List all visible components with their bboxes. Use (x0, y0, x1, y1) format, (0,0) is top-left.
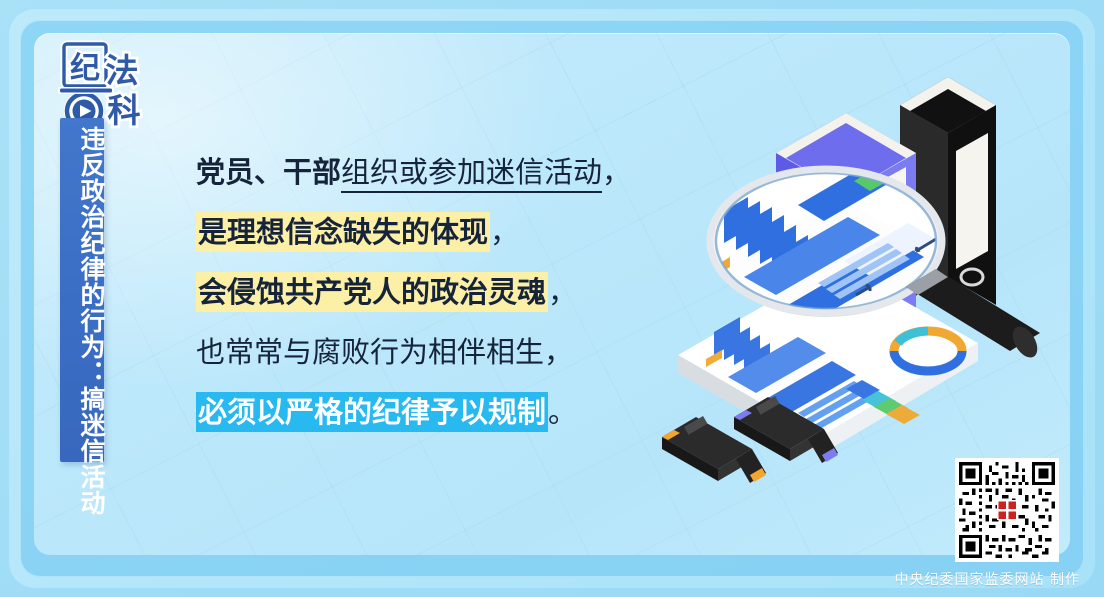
line5-seg-highlight: 必须以严格的纪律予以规制 (196, 392, 548, 432)
line1-seg-underline: 组织或参加迷信活动 (341, 155, 602, 193)
body-line-2: 是理想信念缺失的体现， (196, 202, 666, 262)
logo-char-fa: 法 (106, 51, 139, 90)
vertical-title-text: 违反政治纪律的行为：搞迷信活动 (60, 126, 104, 516)
poster-canvas: 纪 法 科 违反政治纪律的行为：搞迷信活动 (0, 0, 1104, 597)
line2-seg-highlight: 是理想信念缺失的体现 (196, 212, 490, 252)
credit-text: 中央纪委国家监委网站 制作 (820, 569, 1080, 589)
body-line-4: 也常常与腐败行为相伴相生， (196, 322, 666, 382)
logo-char-ji: 纪 (70, 51, 100, 86)
line3-seg-highlight: 会侵蚀共产党人的政治灵魂 (196, 272, 548, 312)
illustration-isometric-documents (648, 55, 1068, 485)
line5-seg-punct: 。 (548, 395, 577, 429)
line4-seg-plain: 也常常与腐败行为相伴相生， (196, 335, 573, 369)
body-line-3: 会侵蚀共产党人的政治灵魂， (196, 262, 666, 322)
line1-seg-bold: 党员、干部 (196, 155, 341, 189)
line1-seg-punct: ， (602, 155, 631, 189)
line3-seg-punct: ， (548, 275, 577, 309)
qr-code[interactable] (955, 458, 1059, 562)
body-copy: 党员、干部组织或参加迷信活动， 是理想信念缺失的体现， 会侵蚀共产党人的政治灵魂… (196, 142, 666, 442)
logo-char-ke: 科 (108, 91, 141, 130)
line2-seg-punct: ， (490, 215, 519, 249)
vertical-title-banner: 违反政治纪律的行为：搞迷信活动 (60, 118, 104, 462)
body-line-5: 必须以严格的纪律予以规制。 (196, 382, 666, 442)
body-line-1: 党员、干部组织或参加迷信活动， (196, 142, 666, 202)
